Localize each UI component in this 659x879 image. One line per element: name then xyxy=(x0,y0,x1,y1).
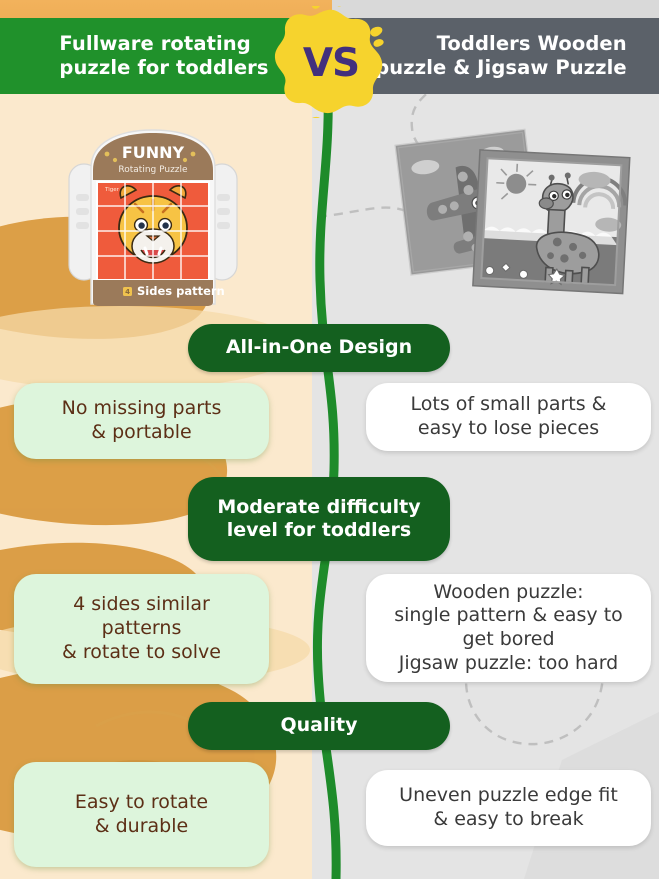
pro-card-quality: Easy to rotate & durable xyxy=(14,762,269,867)
product-corner-label: Tiger xyxy=(104,187,120,193)
vs-badge: VS xyxy=(272,6,388,118)
product-sides-count: 4 xyxy=(125,288,130,296)
pro-card-all-in-one-design: No missing parts & portable xyxy=(14,383,269,459)
pro-card-difficulty-level: 4 sides similar patterns & rotate to sol… xyxy=(14,574,269,684)
con-card-difficulty-level: Wooden puzzle: single pattern & easy to … xyxy=(366,574,651,682)
left-product-image: FUNNY Rotating Puzzle xyxy=(63,128,243,318)
product-brand-line2: Rotating Puzzle xyxy=(118,165,188,175)
con-card-all-in-one-design: Lots of small parts & easy to lose piece… xyxy=(366,383,651,451)
feature-label-all-in-one-design: All-in-One Design xyxy=(188,324,450,372)
feature-label-quality: Quality xyxy=(188,702,450,750)
right-product-image xyxy=(392,118,642,318)
infographic-canvas: Fullware rotating puzzle for toddlers To… xyxy=(0,0,659,879)
product-footer-label: Sides pattern xyxy=(137,284,225,298)
product-brand-line1: FUNNY xyxy=(122,143,185,162)
con-card-quality: Uneven puzzle edge fit & easy to break xyxy=(366,770,651,846)
header-right-banner: Toddlers Wooden puzzle & Jigsaw Puzzle xyxy=(347,18,659,94)
feature-label-difficulty-level: Moderate difficulty level for toddlers xyxy=(188,477,450,561)
header-left-title: Fullware rotating puzzle for toddlers xyxy=(37,32,274,80)
header-left-banner: Fullware rotating puzzle for toddlers xyxy=(0,18,312,94)
vs-splat-icon xyxy=(272,6,388,118)
header-right-title: Toddlers Wooden puzzle & Jigsaw Puzzle xyxy=(369,32,636,80)
